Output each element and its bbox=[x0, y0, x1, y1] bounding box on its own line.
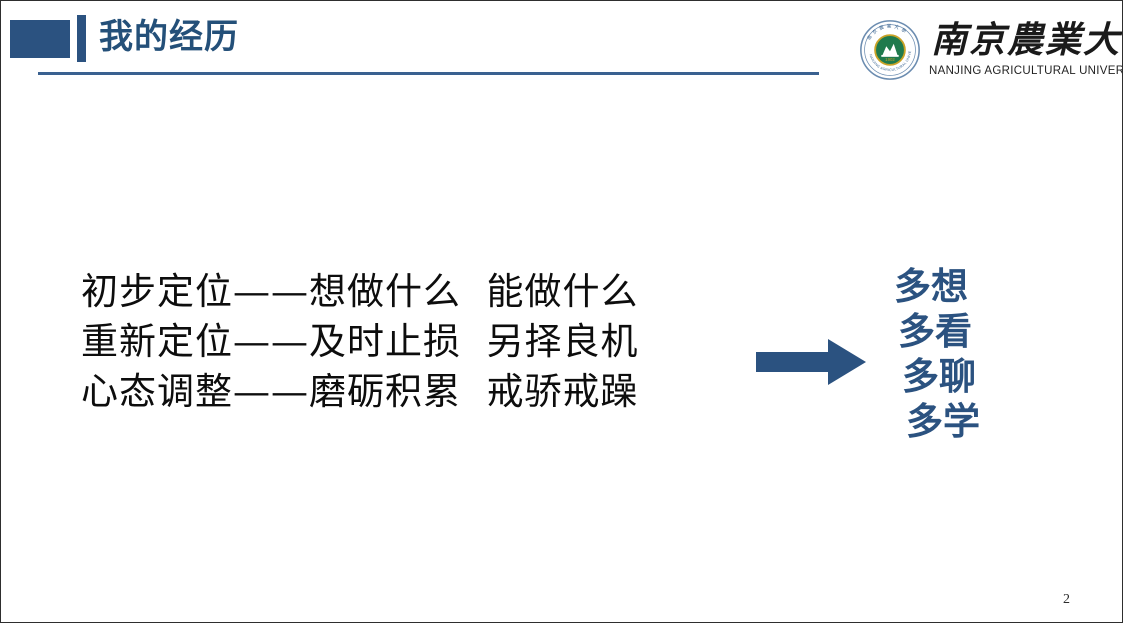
right-arrow-icon bbox=[756, 339, 866, 385]
logo-name-cn: 南京農業大學 bbox=[931, 15, 1111, 65]
slide-canvas: 我的经历 1902 南 京 農 業 大 學 NANJING AGRICULTUR… bbox=[0, 0, 1123, 623]
header-accent-block bbox=[10, 20, 70, 58]
slogan-line: 多聊 bbox=[902, 354, 1024, 399]
university-logo: 1902 南 京 農 業 大 學 NANJING AGRICULTURAL UN… bbox=[859, 15, 1111, 87]
logo-name-en: NANJING AGRICULTURAL UNIVERSITY bbox=[929, 65, 1113, 77]
university-seal-icon: 1902 南 京 農 業 大 學 NANJING AGRICULTURAL UN… bbox=[859, 19, 921, 81]
page-title: 我的经历 bbox=[99, 14, 239, 60]
slogan-line: 多想 bbox=[894, 264, 1024, 309]
page-number: 2 bbox=[1063, 592, 1070, 608]
header-accent-bar bbox=[77, 15, 86, 62]
content-line: 心态调整——磨砺积累 戒骄戒躁 bbox=[81, 367, 721, 417]
content-line: 重新定位——及时止损 另择良机 bbox=[81, 317, 721, 367]
slogan-line: 多看 bbox=[898, 309, 1024, 354]
svg-text:1902: 1902 bbox=[885, 57, 895, 62]
header-divider bbox=[38, 72, 819, 75]
slogan-line: 多学 bbox=[906, 399, 1024, 444]
content-text-block: 初步定位——想做什么 能做什么 重新定位——及时止损 另择良机 心态调整——磨砺… bbox=[81, 267, 721, 417]
content-line: 初步定位——想做什么 能做什么 bbox=[81, 267, 721, 317]
slogan-block: 多想 多看 多聊 多学 bbox=[894, 264, 1024, 444]
